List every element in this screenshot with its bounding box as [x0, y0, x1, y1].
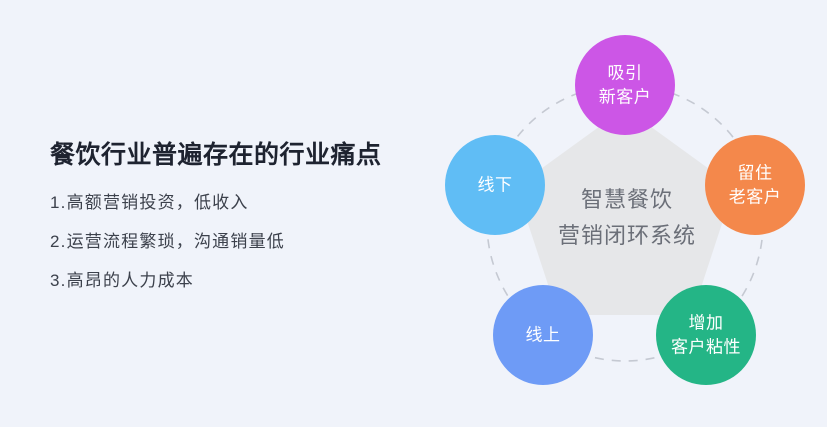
pentagon-cycle-diagram: 智慧餐饮 营销闭环系统 吸引 新客户 留住 老客户 增加 客户粘性 线上 线	[425, 15, 825, 415]
list-item: 1.高额营销投资，低收入	[50, 194, 430, 211]
pain-point-list: 1.高额营销投资，低收入 2.运营流程繁琐，沟通销量低 3.高昂的人力成本	[50, 194, 430, 289]
list-item: 3.高昂的人力成本	[50, 272, 430, 289]
pentagon-background-shape	[516, 108, 734, 315]
node-circle-online[interactable]	[493, 285, 593, 385]
node-offline[interactable]: 线下	[445, 135, 545, 235]
node-increase-stickiness[interactable]: 增加 客户粘性	[656, 285, 756, 385]
list-item: 2.运营流程繁琐，沟通销量低	[50, 233, 430, 250]
left-text-panel: 餐饮行业普遍存在的行业痛点 1.高额营销投资，低收入 2.运营流程繁琐，沟通销量…	[50, 140, 430, 311]
node-circle-retain-old-customers[interactable]	[705, 135, 805, 235]
node-retain-old-customers[interactable]: 留住 老客户	[705, 135, 805, 235]
node-circle-increase-stickiness[interactable]	[656, 285, 756, 385]
node-attract-new-customers[interactable]: 吸引 新客户	[575, 35, 675, 135]
node-circle-offline[interactable]	[445, 135, 545, 235]
node-online[interactable]: 线上	[493, 285, 593, 385]
page-title: 餐饮行业普遍存在的行业痛点	[50, 140, 430, 170]
node-circle-attract-new-customers[interactable]	[575, 35, 675, 135]
